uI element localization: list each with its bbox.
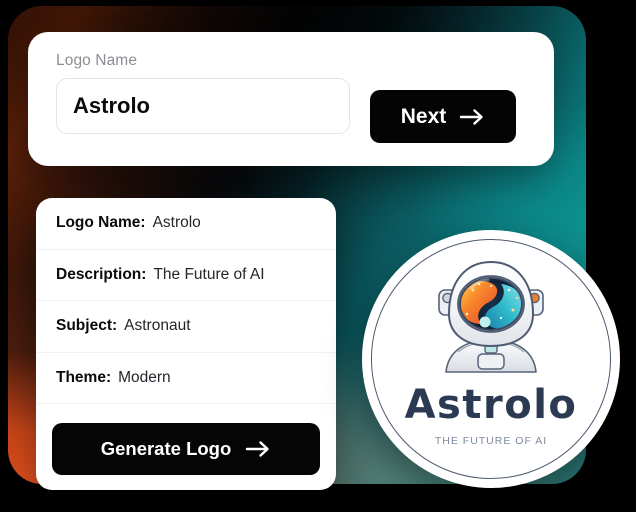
detail-key: Logo Name: [56,214,146,232]
arrow-right-icon [459,108,485,126]
generate-logo-button-label: Generate Logo [101,438,232,460]
astronaut-helmet-icon [425,252,557,383]
logo-details-card: Logo Name: Astrolo Description: The Futu… [36,198,336,490]
logo-tagline: THE FUTURE OF AI [435,435,547,447]
next-button[interactable]: Next [370,90,516,143]
next-button-label: Next [401,105,447,129]
detail-value: The Future of AI [153,266,264,284]
generated-logo-badge[interactable]: Astrolo THE FUTURE OF AI [362,230,620,488]
logo-name-input[interactable] [56,78,350,134]
detail-row-logo-name: Logo Name: Astrolo [36,198,336,250]
detail-value: Modern [118,369,171,387]
logo-badge-content: Astrolo THE FUTURE OF AI [362,230,620,488]
detail-key: Subject: [56,317,117,335]
screenshot-stage: Logo Name Next Logo Name: Astrolo Descri… [0,0,636,512]
detail-value: Astronaut [124,317,190,335]
detail-value: Astrolo [153,214,201,232]
detail-key: Theme: [56,369,111,387]
generate-logo-button[interactable]: Generate Logo [52,423,320,475]
logo-wordmark: Astrolo [405,385,578,425]
logo-name-form-card: Logo Name Next [28,32,554,166]
arrow-right-icon [245,440,271,458]
detail-row-theme: Theme: Modern [36,353,336,405]
detail-key: Description: [56,266,146,284]
detail-row-description: Description: The Future of AI [36,250,336,302]
logo-name-label: Logo Name [56,52,137,70]
detail-row-subject: Subject: Astronaut [36,301,336,353]
